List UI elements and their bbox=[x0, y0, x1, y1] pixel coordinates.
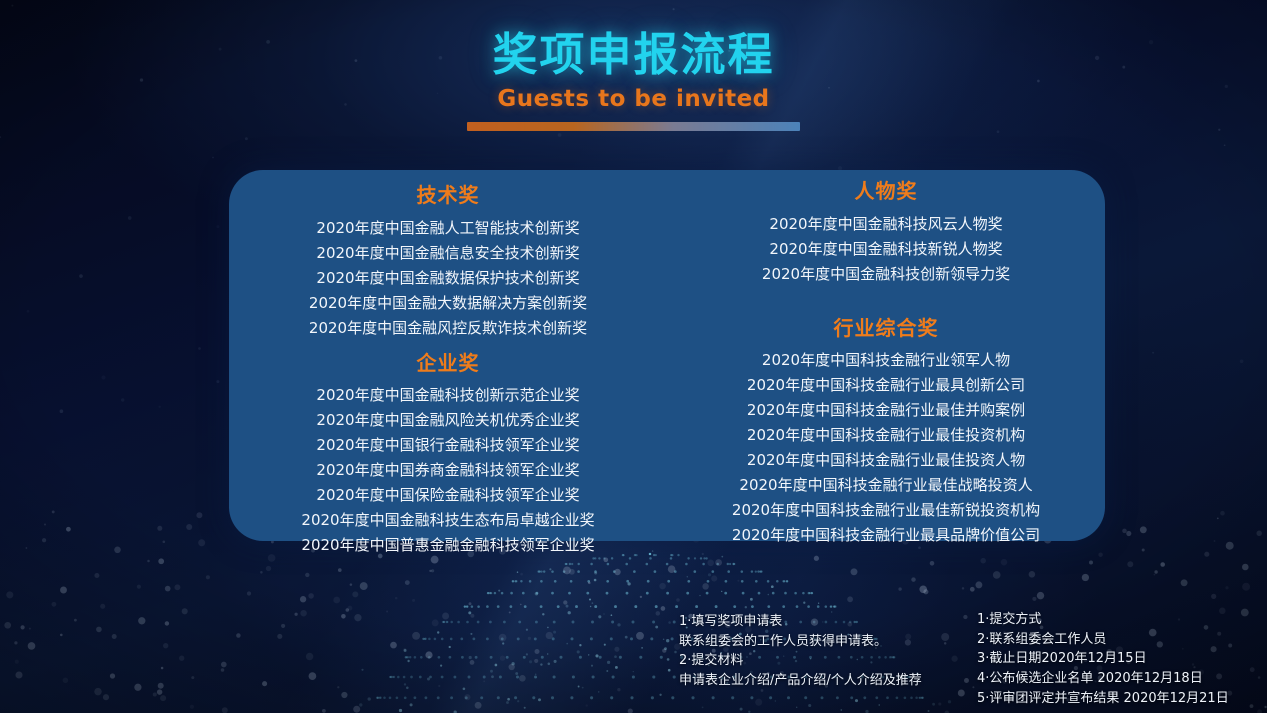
award-group-enterprise: 企业奖 2020年度中国金融科技创新示范企业奖2020年度中国金融风险关机优秀企… bbox=[229, 347, 667, 553]
award-item: 2020年度中国金融科技创新示范企业奖 bbox=[229, 388, 667, 403]
schedule-note: 1·提交方式 2·联系组委会工作人员 3·截止日期2020年12月15日 4·公… bbox=[977, 590, 1229, 713]
awards-column-left: 技术奖 2020年度中国金融人工智能技术创新奖2020年度中国金融信息安全技术创… bbox=[229, 170, 667, 541]
award-item: 2020年度中国金融信息安全技术创新奖 bbox=[229, 246, 667, 261]
award-item: 2020年度中国科技金融行业最佳投资人物 bbox=[667, 453, 1105, 468]
award-item: 2020年度中国科技金融行业最佳并购案例 bbox=[667, 403, 1105, 418]
award-item: 2020年度中国金融风险关机优秀企业奖 bbox=[229, 413, 667, 428]
award-item: 2020年度中国金融科技生态布局卓越企业奖 bbox=[229, 513, 667, 528]
award-item: 2020年度中国科技金融行业最佳投资机构 bbox=[667, 428, 1105, 443]
schedule-text: 1·提交方式 2·联系组委会工作人员 3·截止日期2020年12月15日 4·公… bbox=[977, 610, 1229, 709]
award-group-person-heading: 人物奖 bbox=[667, 175, 1105, 204]
award-group-enterprise-heading: 企业奖 bbox=[229, 347, 667, 376]
award-list-enterprise: 2020年度中国金融科技创新示范企业奖2020年度中国金融风险关机优秀企业奖20… bbox=[229, 388, 667, 553]
page-title: 奖项申报流程 bbox=[0, 30, 1267, 80]
title-underline-bar bbox=[467, 122, 800, 131]
award-item: 2020年度中国金融人工智能技术创新奖 bbox=[229, 221, 667, 236]
award-group-person: 人物奖 2020年度中国金融科技风云人物奖2020年度中国金融科技新锐人物奖20… bbox=[667, 175, 1105, 282]
award-group-industry: 行业综合奖 2020年度中国科技金融行业领军人物2020年度中国科技金融行业最具… bbox=[667, 312, 1105, 543]
award-item: 2020年度中国科技金融行业最佳战略投资人 bbox=[667, 478, 1105, 493]
award-group-technology-heading: 技术奖 bbox=[229, 179, 667, 208]
awards-column-right: 人物奖 2020年度中国金融科技风云人物奖2020年度中国金融科技新锐人物奖20… bbox=[667, 170, 1105, 541]
award-item: 2020年度中国金融科技创新领导力奖 bbox=[667, 267, 1105, 282]
award-item: 2020年度中国金融风控反欺诈技术创新奖 bbox=[229, 321, 667, 336]
award-list-person: 2020年度中国金融科技风云人物奖2020年度中国金融科技新锐人物奖2020年度… bbox=[667, 217, 1105, 282]
page-subtitle: Guests to be invited bbox=[0, 86, 1267, 112]
award-item: 2020年度中国金融大数据解决方案创新奖 bbox=[229, 296, 667, 311]
award-item: 2020年度中国银行金融科技领军企业奖 bbox=[229, 438, 667, 453]
award-item: 2020年度中国科技金融行业最具创新公司 bbox=[667, 378, 1105, 393]
award-group-technology: 技术奖 2020年度中国金融人工智能技术创新奖2020年度中国金融信息安全技术创… bbox=[229, 179, 667, 336]
award-item: 2020年度中国科技金融行业最佳新锐投资机构 bbox=[667, 503, 1105, 518]
slide-header: 奖项申报流程 Guests to be invited bbox=[0, 30, 1267, 131]
awards-card: 技术奖 2020年度中国金融人工智能技术创新奖2020年度中国金融信息安全技术创… bbox=[229, 170, 1105, 541]
award-list-industry: 2020年度中国科技金融行业领军人物2020年度中国科技金融行业最具创新公司20… bbox=[667, 353, 1105, 543]
award-group-industry-heading: 行业综合奖 bbox=[667, 312, 1105, 341]
award-item: 2020年度中国金融数据保护技术创新奖 bbox=[229, 271, 667, 286]
award-item: 2020年度中国券商金融科技领军企业奖 bbox=[229, 463, 667, 478]
application-steps-text: 1·填写奖项申请表 联系组委会的工作人员获得申请表。 2·提交材料 申请表企业介… bbox=[679, 612, 922, 691]
slide-root: 奖项申报流程 Guests to be invited 技术奖 2020年度中国… bbox=[0, 0, 1267, 713]
award-item: 2020年度中国保险金融科技领军企业奖 bbox=[229, 488, 667, 503]
award-item: 2020年度中国金融科技新锐人物奖 bbox=[667, 242, 1105, 257]
award-item: 2020年度中国科技金融行业最具品牌价值公司 bbox=[667, 528, 1105, 543]
award-item: 2020年度中国科技金融行业领军人物 bbox=[667, 353, 1105, 368]
award-item: 2020年度中国金融科技风云人物奖 bbox=[667, 217, 1105, 232]
application-steps-note: 1·填写奖项申请表 联系组委会的工作人员获得申请表。 2·提交材料 申请表企业介… bbox=[679, 592, 922, 711]
award-list-technology: 2020年度中国金融人工智能技术创新奖2020年度中国金融信息安全技术创新奖20… bbox=[229, 221, 667, 336]
award-item: 2020年度中国普惠金融金融科技领军企业奖 bbox=[229, 538, 667, 553]
